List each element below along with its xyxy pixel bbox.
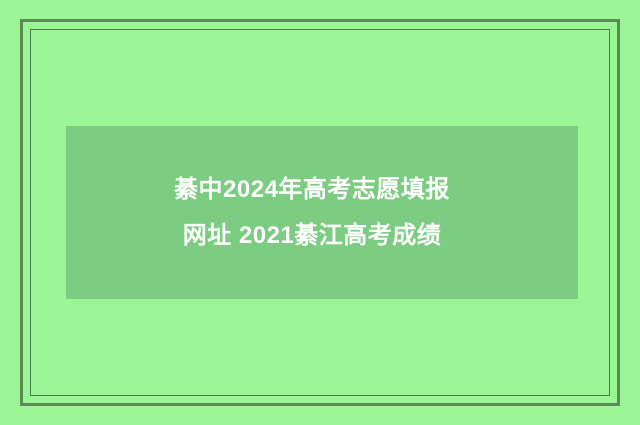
headline-plate: 綦中2024年高考志愿填报 网址 2021綦江高考成绩 bbox=[66, 126, 578, 299]
headline-text: 綦中2024年高考志愿填报 网址 2021綦江高考成绩 bbox=[174, 167, 450, 259]
headline-line-1: 綦中2024年高考志愿填报 bbox=[174, 167, 450, 213]
headline-line-2: 网址 2021綦江高考成绩 bbox=[174, 213, 450, 259]
banner-root: 綦中2024年高考志愿填报 网址 2021綦江高考成绩 bbox=[0, 0, 640, 425]
